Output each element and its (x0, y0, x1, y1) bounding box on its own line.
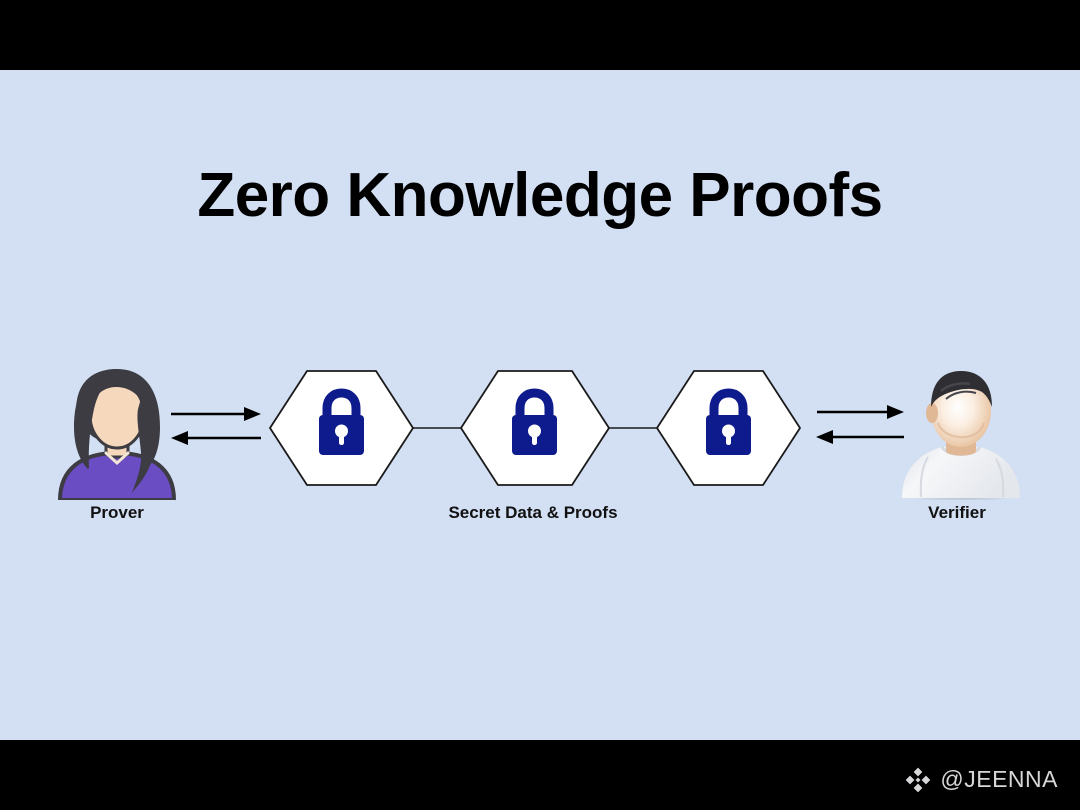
binance-diamond-icon (905, 766, 931, 792)
slide-canvas: Zero Knowledge Proofs (0, 70, 1080, 740)
verifier-label: Verifier (862, 503, 1052, 523)
secret-data-hexagon-chain (265, 365, 805, 500)
page-title: Zero Knowledge Proofs (0, 160, 1080, 231)
male-avatar-icon (886, 365, 1036, 500)
verifier-node[interactable] (886, 365, 1036, 500)
zkp-flow-diagram: Prover (0, 365, 1080, 500)
hexagon-node-2 (461, 371, 609, 485)
slide-root: Zero Knowledge Proofs (0, 0, 1080, 810)
prover-exchange-arrows (166, 365, 266, 500)
prover-label: Prover (22, 503, 212, 523)
hexagon-node-1 (270, 371, 413, 485)
watermark-handle: @JEENNA (940, 766, 1058, 793)
hexagon-node-3 (657, 371, 800, 485)
arrow-left-icon (171, 431, 261, 445)
watermark: @JEENNA (905, 762, 1058, 796)
secret-data-label: Secret Data & Proofs (390, 503, 676, 523)
letterbox-bar-top (0, 0, 1080, 70)
arrow-right-icon (171, 407, 261, 421)
